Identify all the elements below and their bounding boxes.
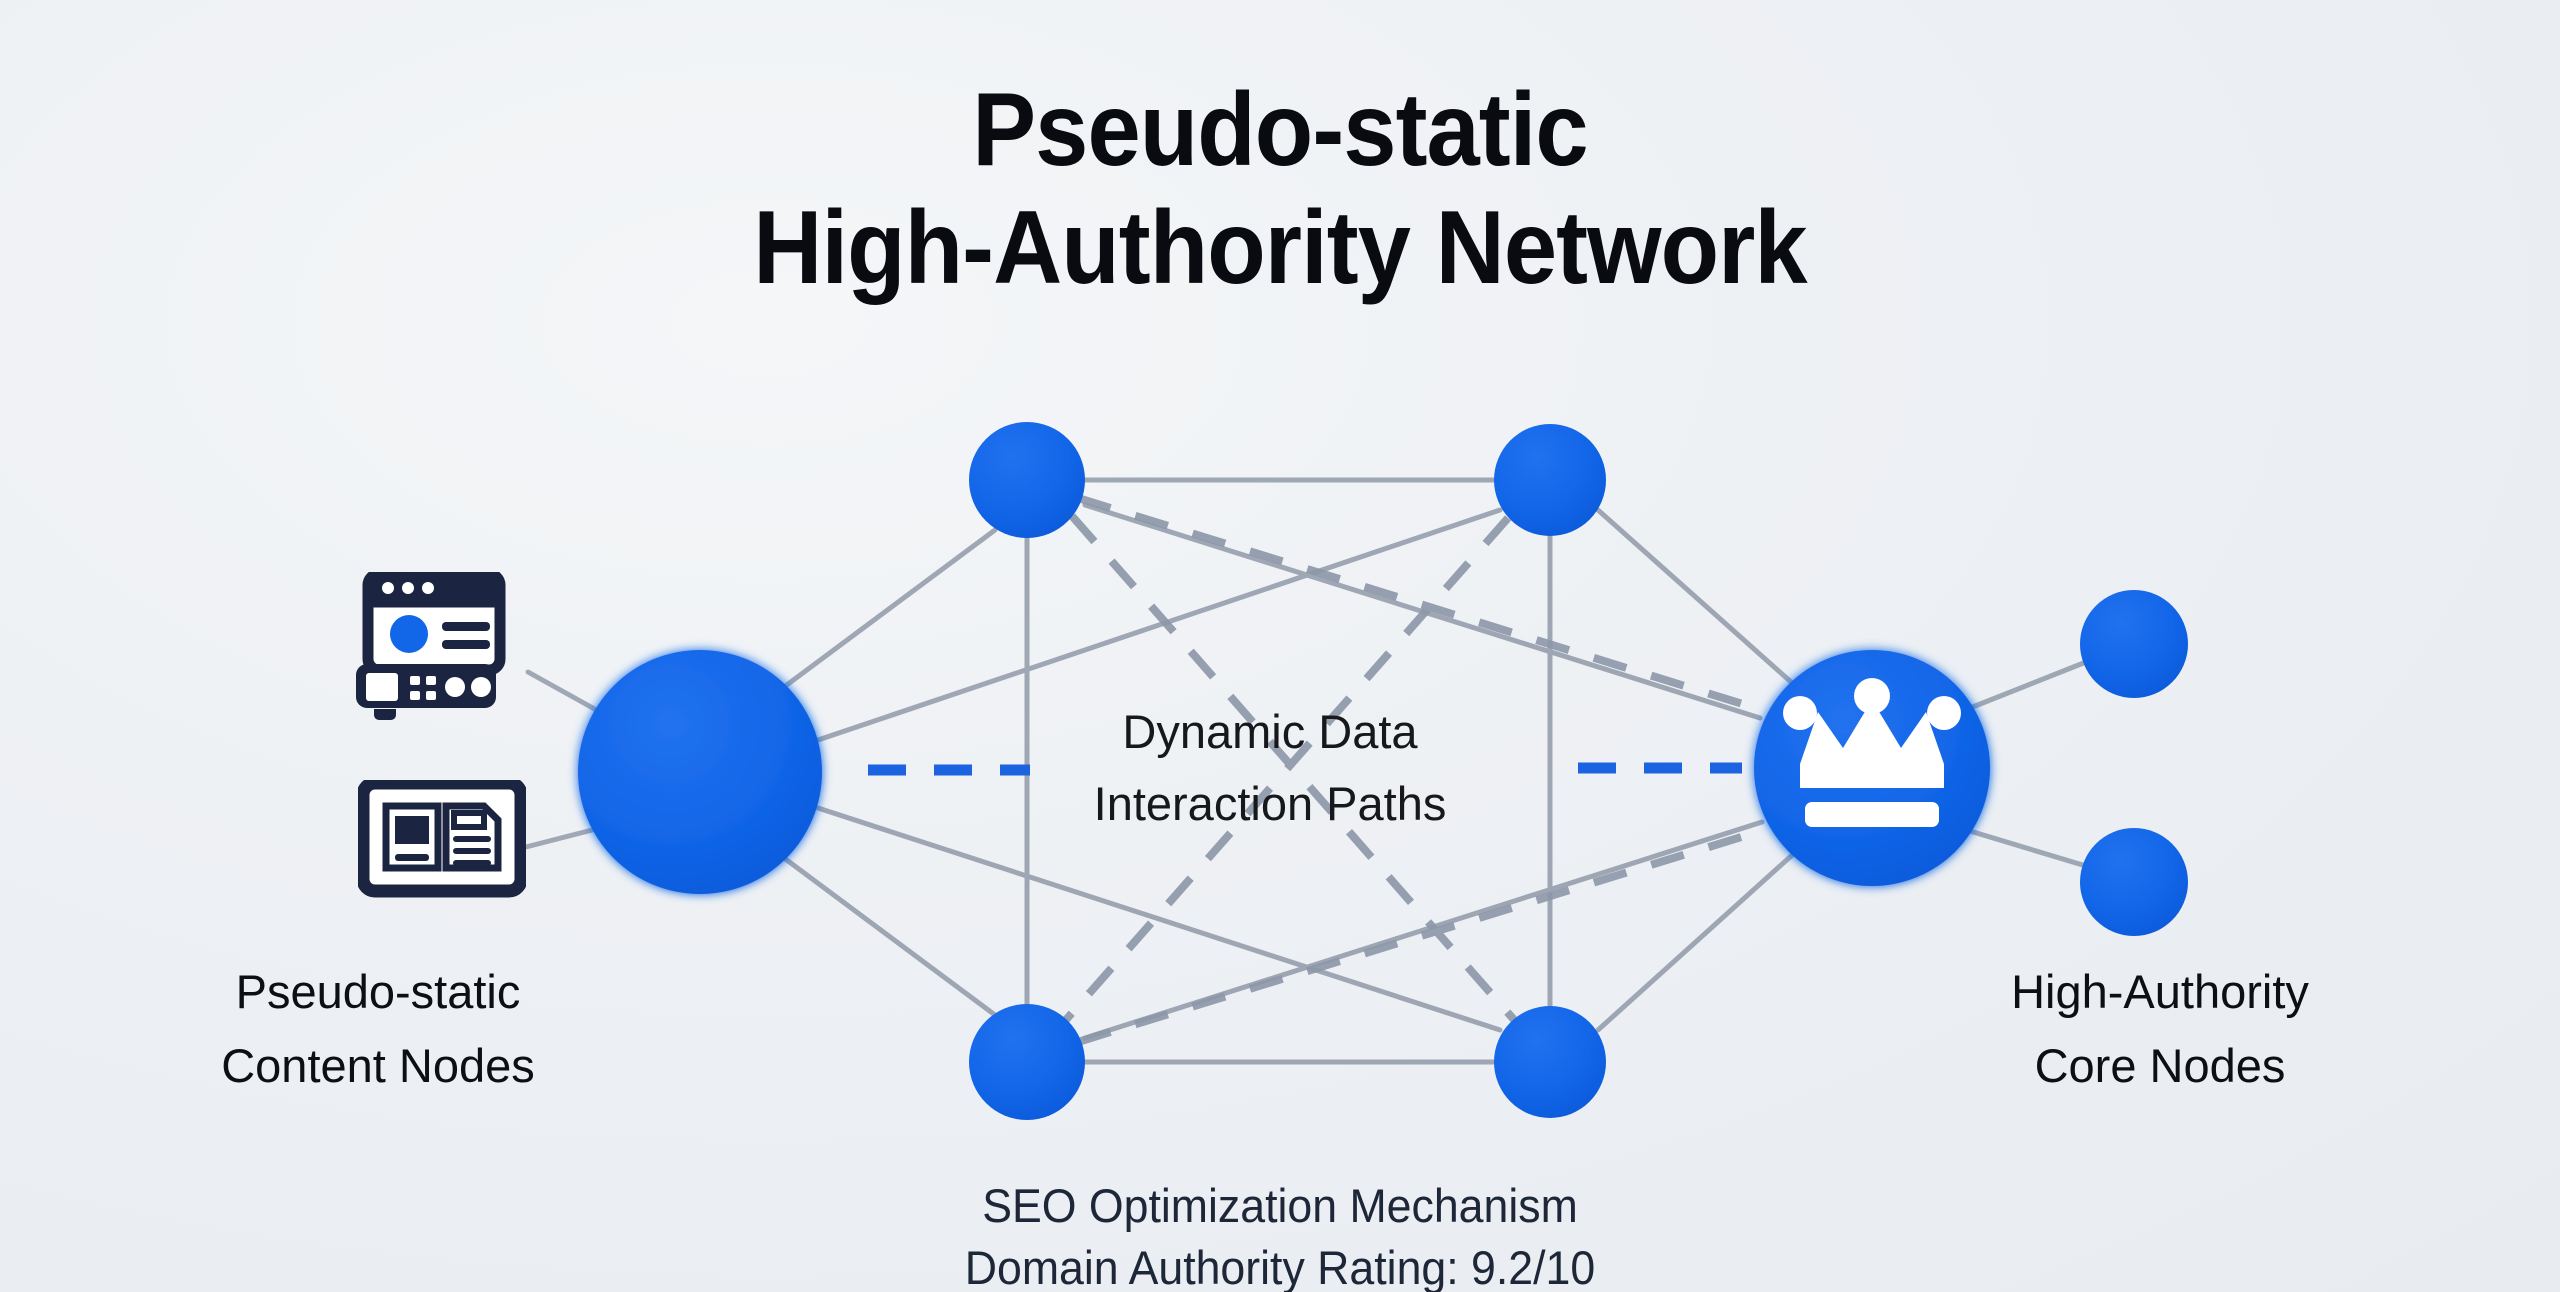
crown-icon <box>1783 678 1961 827</box>
dashed-blue-edge-group <box>868 768 1742 770</box>
node-mid-bot-left[interactable] <box>969 1004 1085 1120</box>
node-mid-bot-right[interactable] <box>1494 1006 1606 1118</box>
title-line-1: Pseudo-static <box>102 78 2457 182</box>
label-high-authority-core-nodes: High-Authority Core Nodes <box>1910 955 2410 1103</box>
edge-hub-midbotright <box>818 808 1500 1030</box>
edge-hub-midbotleft <box>780 855 995 1015</box>
node-mid-top-right[interactable] <box>1494 424 1606 536</box>
dashed-edge-midtopleft-midbotright <box>1072 516 1516 1022</box>
label-right-line-2: Core Nodes <box>1910 1029 2410 1103</box>
edge-hub-midtopleft <box>780 530 995 690</box>
node-content-hub[interactable] <box>578 650 822 894</box>
dashed-edge-midtopright-midbotleft <box>1064 518 1508 1022</box>
edge-icon-browser-hub <box>528 672 600 712</box>
dashed-edge-midbotleft-core <box>1078 830 1764 1042</box>
monitor-content-icon <box>358 780 526 902</box>
edge-hub-midtopright <box>818 510 1500 740</box>
edge-core-leafbottom <box>1960 828 2086 866</box>
footer-annotations: SEO Optimization Mechanism Domain Author… <box>0 1175 2560 1292</box>
edge-icon-monitor-hub <box>522 828 600 848</box>
node-leaf-bottom[interactable] <box>2080 828 2188 936</box>
browser-window-server-icon <box>352 572 532 727</box>
edge-midbotright-core <box>1598 848 1800 1030</box>
title-line-2: High-Authority Network <box>102 196 2457 300</box>
footer-line-1: SEO Optimization Mechanism <box>64 1175 2496 1237</box>
node-mid-top-left[interactable] <box>969 422 1085 538</box>
page-title: Pseudo-static High-Authority Network <box>0 78 2560 300</box>
footer-line-2: Domain Authority Rating: 9.2/10 <box>64 1237 2496 1292</box>
node-leaf-top[interactable] <box>2080 590 2188 698</box>
dashed-edge-midtopleft-core <box>1078 498 1762 710</box>
label-left-line-2: Content Nodes <box>128 1029 628 1103</box>
label-left-line-1: Pseudo-static <box>128 955 628 1029</box>
label-right-line-1: High-Authority <box>1910 955 2410 1029</box>
diagram-canvas: Pseudo-static High-Authority Network <box>0 0 2560 1292</box>
edge-core-leaftop <box>1960 662 2086 712</box>
label-pseudo-static-content-nodes: Pseudo-static Content Nodes <box>128 955 628 1103</box>
edge-midtopright-core <box>1598 510 1800 690</box>
